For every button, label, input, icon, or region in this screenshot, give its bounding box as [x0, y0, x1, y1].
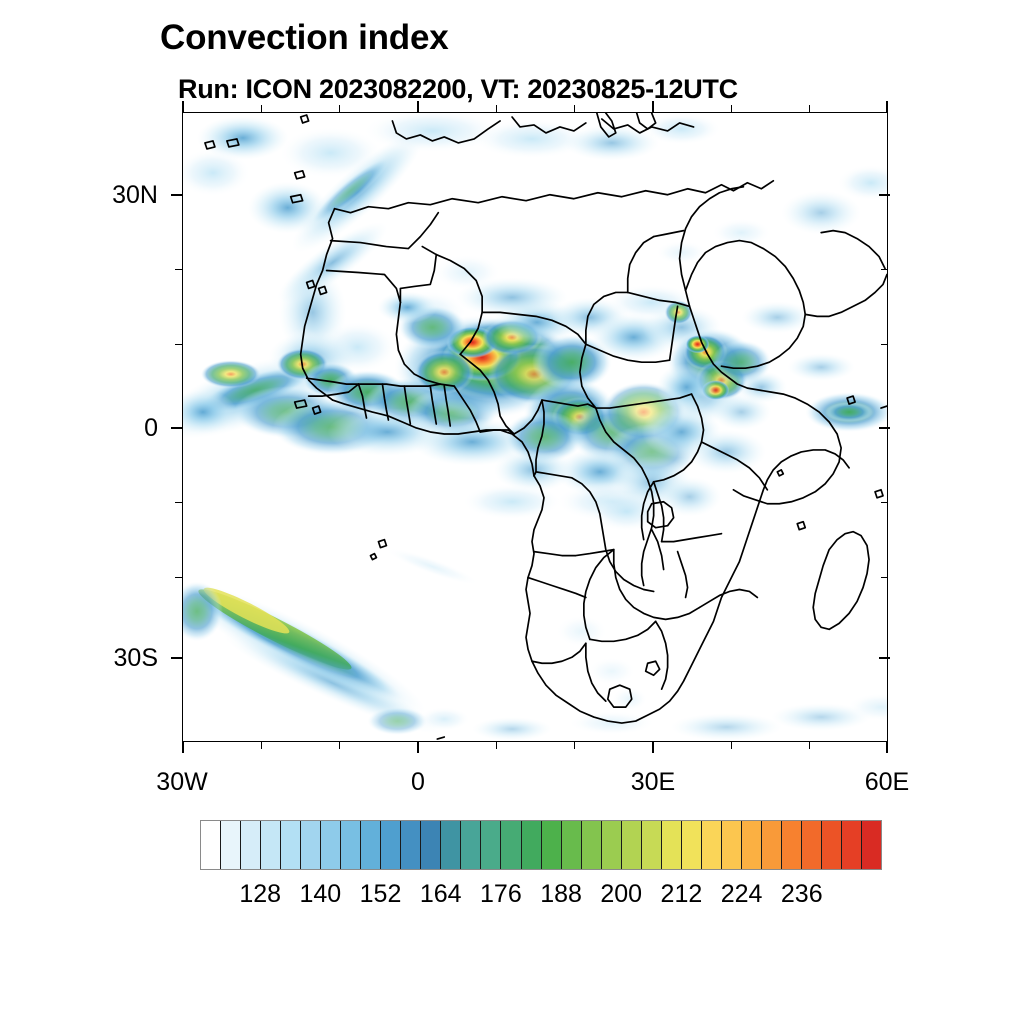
colorbar-label-152: 152	[360, 880, 402, 909]
xtick-top-10w	[339, 105, 340, 112]
ytick-label-0: 0	[40, 414, 158, 443]
xtick-top-0	[417, 101, 419, 112]
colorbar-cell-33	[862, 821, 881, 869]
colorbar[interactable]	[200, 820, 882, 870]
xtick-top-40e	[731, 105, 732, 112]
xtick-top-30e	[652, 101, 654, 112]
convection-index-map-page: Convection index Run: ICON 2023082200, V…	[0, 0, 1024, 1024]
colorbar-label-236: 236	[781, 880, 823, 909]
colorbar-cell-26	[722, 821, 742, 869]
colorbar-cell-1	[221, 821, 241, 869]
ytick-right-0	[879, 427, 890, 429]
xtick-major-60e	[886, 742, 888, 753]
colorbar-label-176: 176	[480, 880, 522, 909]
colorbar-label-128: 128	[239, 880, 281, 909]
ytick-minor-10s	[175, 502, 182, 503]
colorbar-cell-23	[662, 821, 682, 869]
colorbar-cell-4	[281, 821, 301, 869]
colorbar-cell-31	[822, 821, 842, 869]
xtick-top-50e	[809, 105, 810, 112]
colorbar-cell-32	[842, 821, 862, 869]
map-canvas	[183, 113, 887, 741]
ytick-right-10n	[881, 344, 888, 345]
ytick-minor-10n	[175, 344, 182, 345]
xtick-minor-10e	[496, 742, 497, 749]
colorbar-cell-3	[261, 821, 281, 869]
colorbar-label-200: 200	[600, 880, 642, 909]
colorbar-cell-15	[501, 821, 521, 869]
xtick-top-30w	[182, 101, 184, 112]
colorbar-label-224: 224	[721, 880, 763, 909]
xtick-major-30w	[182, 742, 184, 753]
xtick-top-10e	[496, 105, 497, 112]
colorbar-cell-16	[522, 821, 542, 869]
colorbar-cell-9	[381, 821, 401, 869]
colorbar-cell-5	[301, 821, 321, 869]
xtick-label-60e: 60E	[827, 768, 947, 797]
colorbar-cell-14	[481, 821, 501, 869]
xtick-top-20e	[574, 105, 575, 112]
colorbar-cell-2	[241, 821, 261, 869]
colorbar-cell-6	[321, 821, 341, 869]
colorbar-label-164: 164	[420, 880, 462, 909]
xtick-top-60e	[886, 101, 888, 112]
ytick-right-20n	[881, 269, 888, 270]
colorbar-cell-18	[562, 821, 582, 869]
ytick-right-30s	[879, 657, 890, 659]
xtick-major-30e	[652, 742, 654, 753]
xtick-major-0	[417, 742, 419, 753]
xtick-minor-20e	[574, 742, 575, 749]
page-title: Convection index	[160, 18, 449, 58]
colorbar-label-188: 188	[540, 880, 582, 909]
ytick-major-30n	[171, 194, 182, 196]
xtick-label-30e: 30E	[593, 768, 713, 797]
xtick-top-20w	[261, 105, 262, 112]
xtick-label-30w: 30W	[122, 768, 242, 797]
colorbar-cell-7	[341, 821, 361, 869]
colorbar-cell-10	[401, 821, 421, 869]
colorbar-cell-27	[742, 821, 762, 869]
colorbar-cell-28	[762, 821, 782, 869]
ytick-label-30s: 30S	[40, 644, 158, 673]
colorbar-cell-24	[682, 821, 702, 869]
colorbar-cell-0	[201, 821, 221, 869]
colorbar-cell-13	[461, 821, 481, 869]
colorbar-label-140: 140	[299, 880, 341, 909]
ytick-major-0	[171, 427, 182, 429]
colorbar-cell-12	[441, 821, 461, 869]
ytick-label-30n: 30N	[40, 181, 158, 210]
colorbar-cell-21	[622, 821, 642, 869]
ytick-major-30s	[171, 657, 182, 659]
xtick-minor-50e	[809, 742, 810, 749]
ytick-minor-20s	[175, 577, 182, 578]
xtick-minor-10w	[339, 742, 340, 749]
colorbar-cell-8	[361, 821, 381, 869]
page-subtitle: Run: ICON 2023082200, VT: 20230825-12UTC	[178, 74, 738, 105]
xtick-label-0: 0	[358, 768, 478, 797]
xtick-minor-20w	[261, 742, 262, 749]
colorbar-cell-17	[542, 821, 562, 869]
colorbar-cell-11	[421, 821, 441, 869]
colorbar-cell-22	[642, 821, 662, 869]
map-plot-area	[182, 112, 888, 742]
xtick-minor-40e	[731, 742, 732, 749]
colorbar-label-212: 212	[661, 880, 703, 909]
colorbar-cell-20	[602, 821, 622, 869]
colorbar-tick-labels: 128140152164176188200212224236	[200, 880, 882, 916]
colorbar-cell-19	[582, 821, 602, 869]
colorbar-cell-29	[782, 821, 802, 869]
colorbar-cell-25	[702, 821, 722, 869]
ytick-right-30n	[879, 194, 890, 196]
ytick-right-20s	[881, 577, 888, 578]
colorbar-cell-30	[802, 821, 822, 869]
convection-field-layer	[183, 113, 887, 741]
ytick-minor-20n	[175, 269, 182, 270]
ytick-right-10s	[881, 502, 888, 503]
